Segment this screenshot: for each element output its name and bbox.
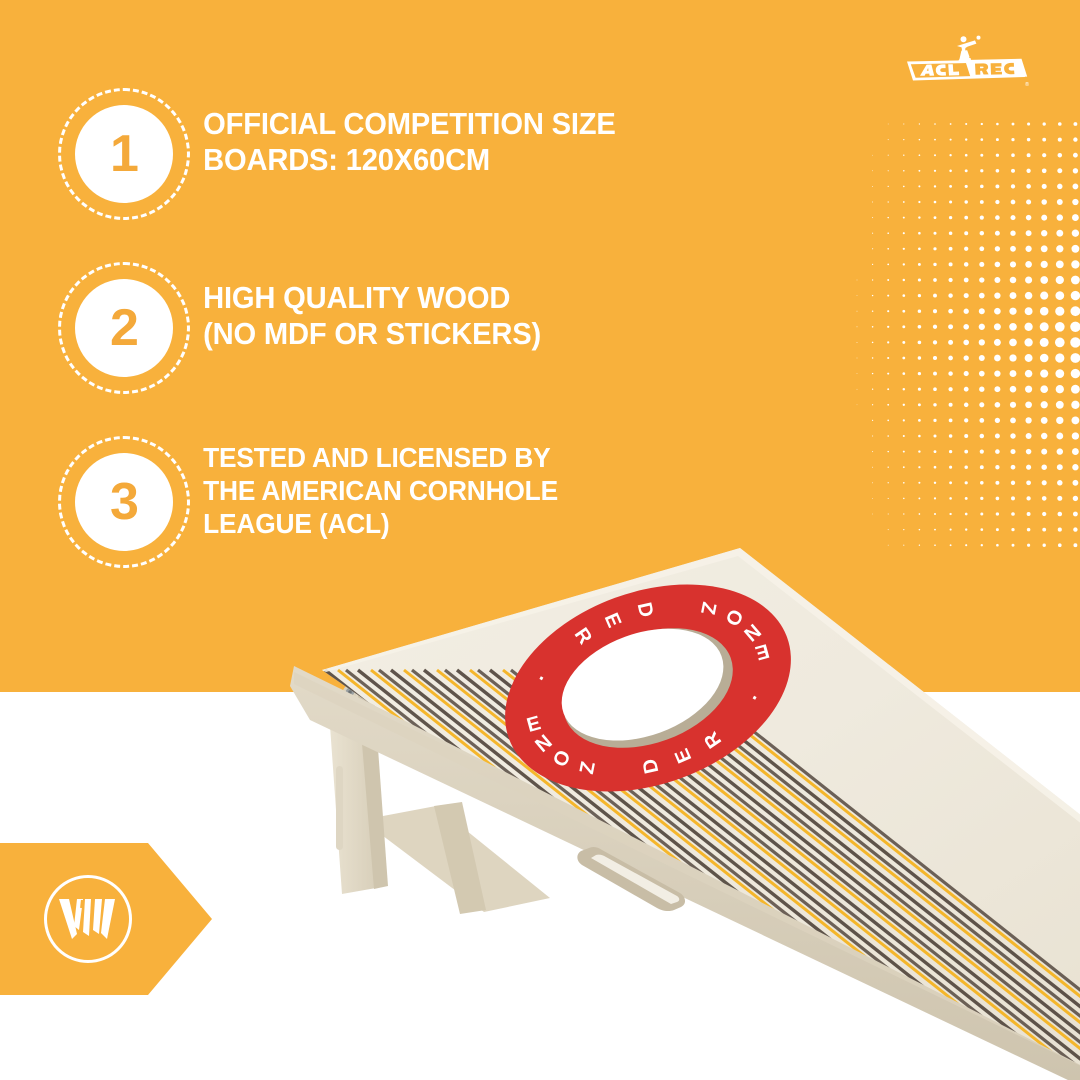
- w-monogram-icon: [55, 890, 121, 948]
- feature-line: OFFICIAL COMPETITION SIZE: [203, 106, 615, 142]
- feature-badge-2: 2: [58, 262, 190, 394]
- halftone-dot-pattern: [855, 120, 1080, 550]
- feature-line: THE AMERICAN CORNHOLE: [203, 475, 558, 508]
- leg-groove: [336, 766, 343, 850]
- feature-line: (NO MDF OR STICKERS): [203, 316, 541, 352]
- cornhole-board: REDZONE·REDZONE·: [250, 520, 1080, 1080]
- badge-disc-3: 3: [75, 453, 173, 551]
- badge-number-1: 1: [110, 128, 138, 180]
- acl-trademark: ®: [1025, 81, 1029, 88]
- feature-line: HIGH QUALITY WOOD: [203, 280, 541, 316]
- feature-text-1: OFFICIAL COMPETITION SIZE BOARDS: 120X60…: [190, 88, 616, 179]
- badge-number-2: 2: [110, 302, 138, 354]
- feature-line: BOARDS: 120X60CM: [203, 142, 615, 178]
- badge-disc-2: 2: [75, 279, 173, 377]
- feature-text-2: HIGH QUALITY WOOD (NO MDF OR STICKERS): [190, 262, 541, 353]
- feature-item-1: 1 OFFICIAL COMPETITION SIZE BOARDS: 120X…: [58, 88, 698, 220]
- feature-list: 1 OFFICIAL COMPETITION SIZE BOARDS: 120X…: [58, 88, 698, 568]
- feature-badge-1: 1: [58, 88, 190, 220]
- feature-badge-3: 3: [58, 436, 190, 568]
- badge-number-3: 3: [110, 476, 138, 528]
- feature-item-2: 2 HIGH QUALITY WOOD (NO MDF OR STICKERS): [58, 262, 698, 394]
- badge-disc-1: 1: [75, 105, 173, 203]
- infographic-canvas: ® 1 OFFICIAL COMPETITION SIZE BOARDS: 12…: [0, 0, 1080, 1080]
- acl-rec-logo: ®: [893, 33, 1033, 91]
- feature-line: TESTED AND LICENSED BY: [203, 442, 558, 475]
